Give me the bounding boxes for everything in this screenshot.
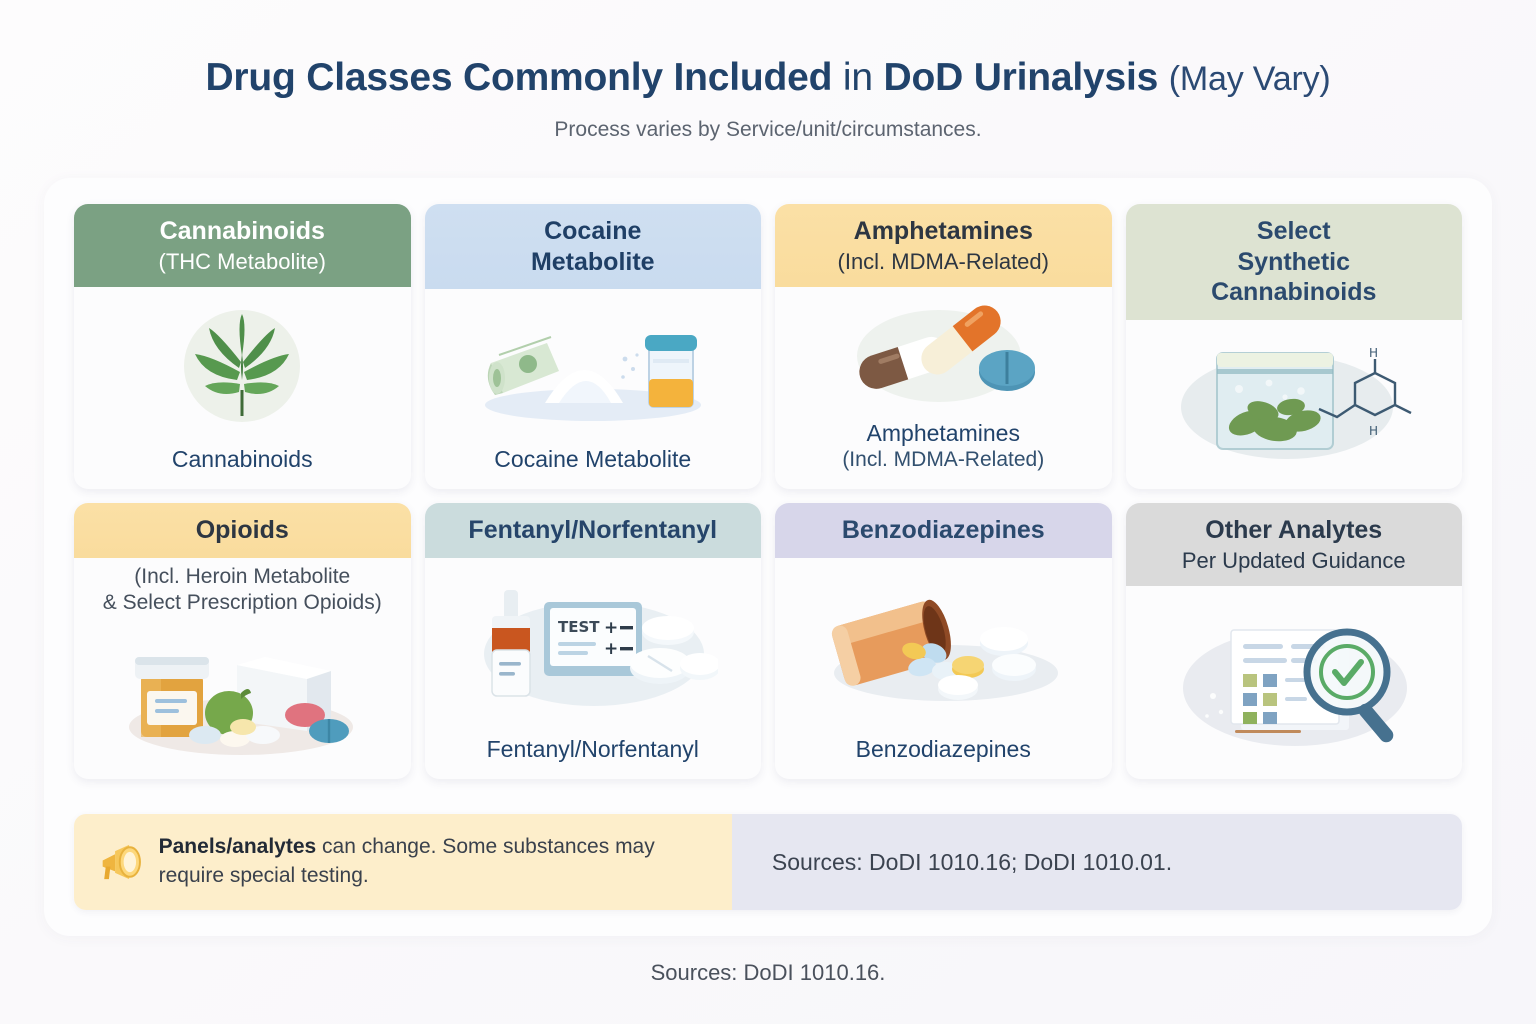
page-header: Drug Classes Commonly Included in DoD Ur…: [0, 0, 1536, 142]
caption-line1: Amphetamines: [867, 420, 1020, 446]
card-title: Fentanyl/Norfentanyl: [435, 515, 752, 546]
title-part1: Drug Classes Commonly Included: [205, 56, 832, 99]
card-header-fentanyl: Fentanyl/Norfentanyl: [425, 503, 762, 558]
nasal-spray-test-icon: TEST + +: [468, 576, 718, 716]
card-header-cannabinoids: Cannabinoids (THC Metabolite): [74, 204, 411, 287]
banner-sources-text: Sources: DoDI 1010.16; DoDI 1010.01.: [772, 849, 1172, 876]
card-caption-amphetamines: Amphetamines (Incl. MDMA-Related): [775, 419, 1112, 489]
card-artwork-benzodiazepines: [775, 558, 1112, 735]
card-title: Opioids: [84, 515, 401, 546]
svg-text:TEST: TEST: [558, 618, 600, 636]
card-caption-cannabinoids: Cannabinoids: [74, 445, 411, 489]
card-subtitle: (THC Metabolite): [84, 249, 401, 276]
page-subtitle: Process varies by Service/unit/circumsta…: [0, 118, 1536, 142]
card-title: Other Analytes: [1136, 515, 1453, 546]
infographic-page: Drug Classes Commonly Included in DoD Ur…: [0, 0, 1536, 1024]
card-artwork-cocaine: [425, 289, 762, 445]
banner-bold-text: Panels/analytes: [159, 835, 317, 858]
page-footnote: Sources: DoDI 1010.16.: [0, 960, 1536, 986]
banner-left-panel: Panels/analytes can change. Some substan…: [74, 814, 732, 910]
card-caption-fentanyl: Fentanyl/Norfentanyl: [425, 735, 762, 779]
card-subtitle: Per Updated Guidance: [1136, 548, 1453, 575]
card-subtitle-opioids: (Incl. Heroin Metabolite & Select Prescr…: [74, 558, 411, 617]
card-artwork-synthetic: H H: [1126, 320, 1463, 490]
card-header-amphetamines: Amphetamines (Incl. MDMA-Related): [775, 204, 1112, 287]
page-title: Drug Classes Commonly Included in DoD Ur…: [0, 56, 1536, 100]
cocaine-powder-icon: [473, 307, 713, 427]
card-header-synthetic: Select Synthetic Cannabinoids: [1126, 204, 1463, 320]
card-header-benzodiazepines: Benzodiazepines: [775, 503, 1112, 558]
card-amphetamines[interactable]: Amphetamines (Incl. MDMA-Related): [775, 204, 1112, 489]
card-artwork-other-analytes: [1126, 586, 1463, 779]
card-row-2: Opioids (Incl. Heroin Metabolite & Selec…: [74, 503, 1462, 779]
card-header-opioids: Opioids: [74, 503, 411, 558]
card-title: Benzodiazepines: [785, 515, 1102, 546]
card-header-cocaine: Cocaine Metabolite: [425, 204, 762, 289]
title-in: in: [843, 56, 873, 99]
title-paren: (May Vary): [1169, 60, 1331, 98]
spilled-pill-bottle-icon: [818, 581, 1068, 711]
subtitle-line2: & Select Prescription Opioids): [103, 591, 382, 614]
disclaimer-banner: Panels/analytes can change. Some substan…: [74, 814, 1462, 910]
card-cocaine-metabolite[interactable]: Cocaine Metabolite: [425, 204, 762, 489]
card-caption-cocaine: Cocaine Metabolite: [425, 445, 762, 489]
card-other-analytes[interactable]: Other Analytes Per Updated Guidance: [1126, 503, 1463, 779]
card-title: Cocaine: [435, 216, 752, 247]
svg-text:+: +: [604, 639, 618, 659]
pills-capsules-icon: [833, 298, 1053, 408]
title-part2: DoD Urinalysis: [884, 56, 1159, 99]
card-title-line2: Metabolite: [435, 247, 752, 278]
card-title: Amphetamines: [785, 216, 1102, 247]
card-row-1: Cannabinoids (THC Metabolite): [74, 204, 1462, 489]
banner-right-panel: Sources: DoDI 1010.16; DoDI 1010.01.: [732, 814, 1462, 910]
banner-disclaimer-text: Panels/analytes can change. Some substan…: [159, 833, 712, 891]
card-fentanyl-norfentanyl[interactable]: Fentanyl/Norfentanyl: [425, 503, 762, 779]
card-cannabinoids[interactable]: Cannabinoids (THC Metabolite): [74, 204, 411, 489]
card-caption-benzodiazepines: Benzodiazepines: [775, 735, 1112, 779]
megaphone-icon: [98, 834, 145, 890]
card-benzodiazepines[interactable]: Benzodiazepines: [775, 503, 1112, 779]
card-artwork-fentanyl: TEST + +: [425, 558, 762, 735]
card-title-line3: Cannabinoids: [1136, 277, 1453, 308]
svg-text:+: +: [604, 618, 618, 638]
svg-text:H: H: [1369, 424, 1378, 438]
card-subtitle: (Incl. MDMA-Related): [785, 249, 1102, 276]
card-title: Select: [1136, 216, 1453, 247]
document-magnifier-check-icon: [1169, 608, 1419, 758]
card-title-line2: Synthetic: [1136, 247, 1453, 278]
card-header-other-analytes: Other Analytes Per Updated Guidance: [1126, 503, 1463, 586]
cannabis-leaf-icon: [147, 306, 337, 426]
card-opioids[interactable]: Opioids (Incl. Heroin Metabolite & Selec…: [74, 503, 411, 779]
card-artwork-cannabinoids: [74, 287, 411, 445]
pill-bottle-icon: [117, 635, 367, 760]
cards-panel: Cannabinoids (THC Metabolite): [44, 178, 1492, 936]
caption-line2: (Incl. MDMA-Related): [783, 447, 1104, 473]
card-artwork-amphetamines: [775, 287, 1112, 419]
card-title: Cannabinoids: [84, 216, 401, 247]
card-select-synthetic-cannabinoids[interactable]: Select Synthetic Cannabinoids: [1126, 204, 1463, 489]
svg-text:H: H: [1369, 346, 1378, 360]
subtitle-line1: (Incl. Heroin Metabolite: [134, 565, 350, 588]
card-artwork-opioids: [74, 616, 411, 779]
herb-baggie-molecule-icon: H H: [1169, 339, 1419, 469]
